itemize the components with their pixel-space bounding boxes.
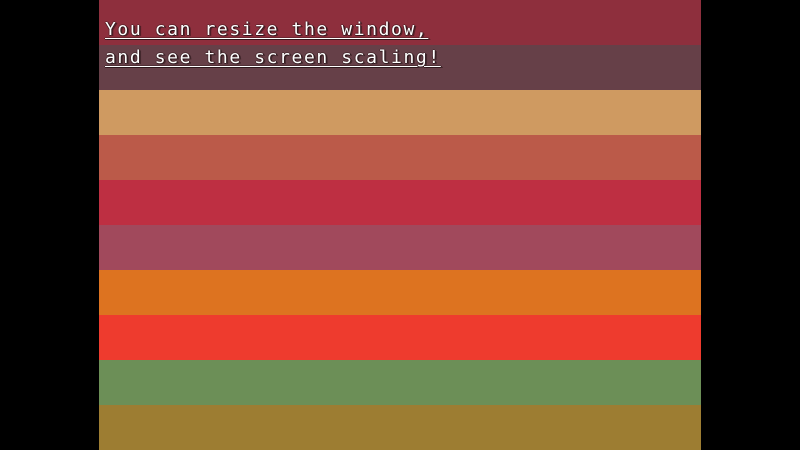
band-dark-crimson <box>99 0 701 45</box>
band-sand-tan <box>99 90 701 135</box>
band-pumpkin-orange <box>99 270 701 315</box>
game-screen: You can resize the window, and see the s… <box>0 0 800 450</box>
band-dusty-rose <box>99 225 701 270</box>
band-olive-gold <box>99 405 701 450</box>
scaled-viewport: You can resize the window, and see the s… <box>99 0 701 450</box>
band-brick-rose <box>99 135 701 180</box>
band-moss-green <box>99 360 701 405</box>
letterbox-bar-right <box>701 0 800 450</box>
band-ruby-red <box>99 180 701 225</box>
band-vivid-red <box>99 315 701 360</box>
band-plum-mauve <box>99 45 701 90</box>
letterbox-bar-left <box>0 0 99 450</box>
color-band-stack <box>99 0 701 450</box>
